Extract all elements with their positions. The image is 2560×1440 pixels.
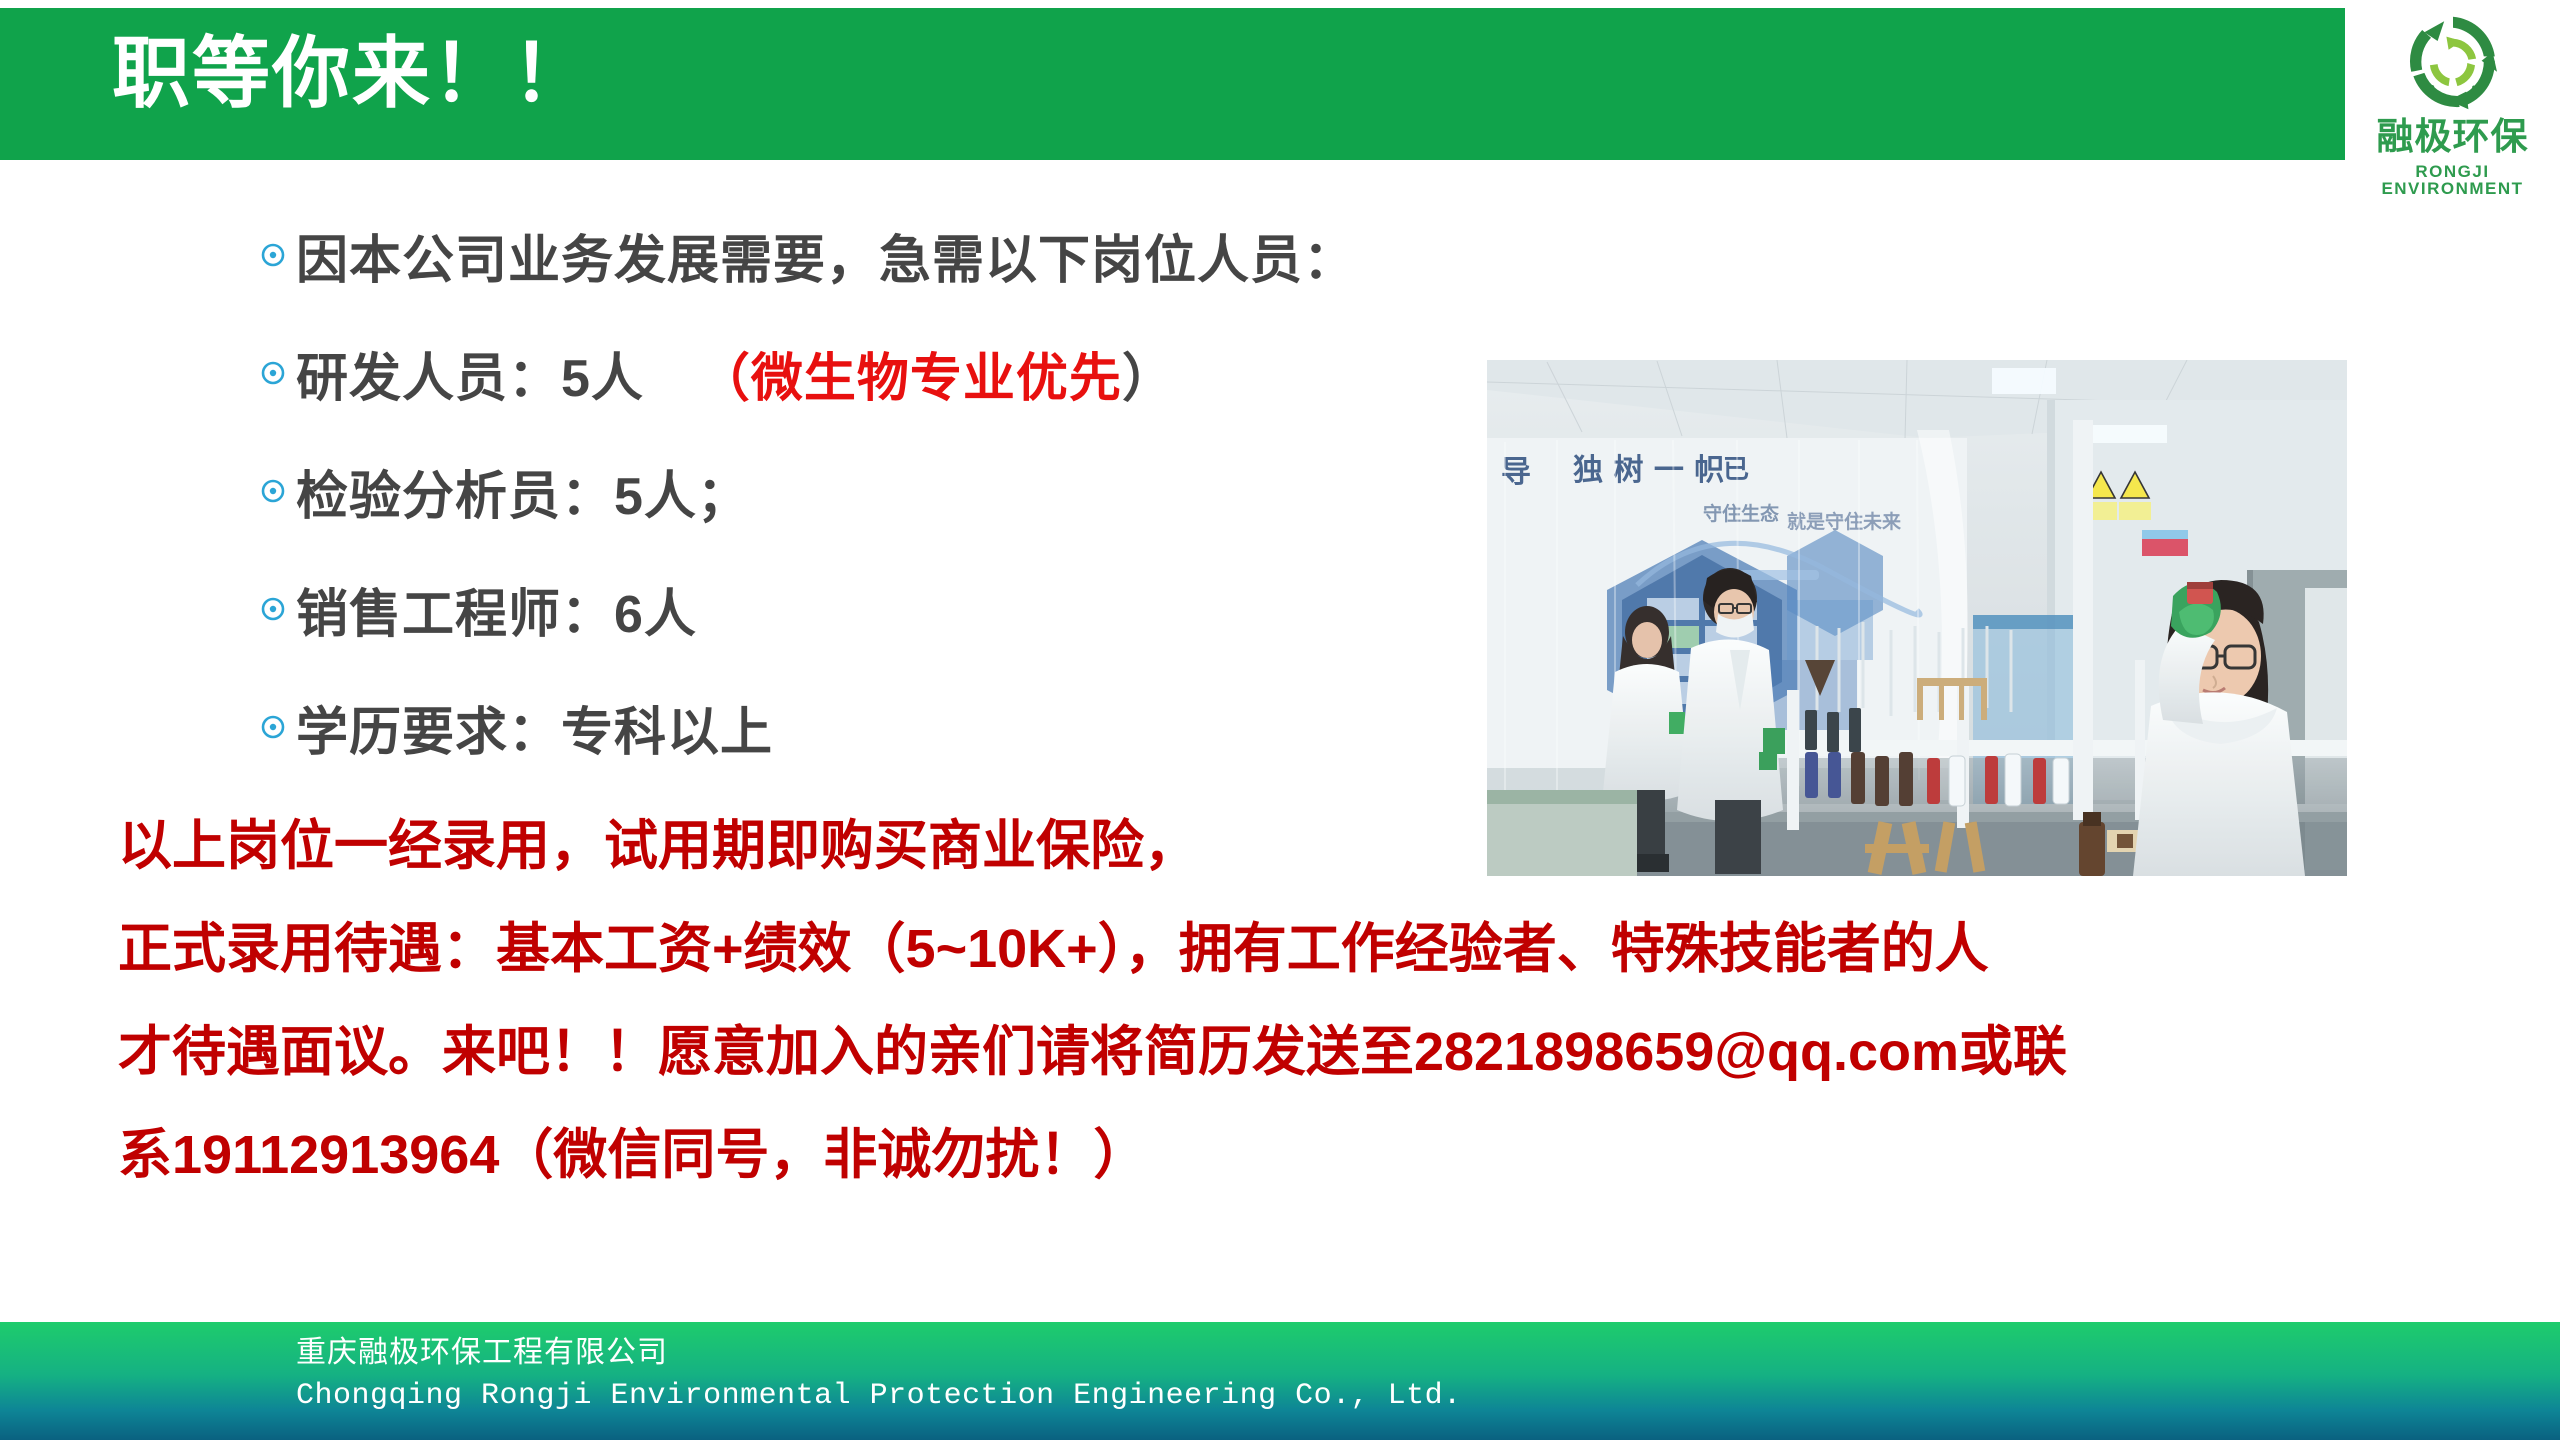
list-item-label: 因本公司业务发展需要，急需以下岗位人员：: [296, 218, 1356, 293]
rd-position-label: 研发人员：5人: [296, 350, 644, 408]
list-item: 学历要求：专科以上: [250, 668, 1480, 786]
bullet-circle-dot-icon: [250, 478, 296, 504]
logo-name-en: RONGJI ENVIRONMENT: [2345, 163, 2560, 197]
footer-company-cn: 重庆融极环保工程有限公司: [296, 1335, 668, 1371]
list-item-label: 研发人员：5人（微生物专业优先）: [296, 336, 1175, 411]
bullet-circle-dot-icon: [250, 596, 296, 622]
notice-line: 以上岗位一经录用，试用期即购买商业保险，: [118, 795, 2448, 898]
bullet-circle-dot-icon: [250, 242, 296, 268]
list-item-label: 检验分析员：5人；: [296, 454, 750, 529]
rd-position-highlight: （微生物专业优先: [698, 350, 1122, 408]
list-item: 因本公司业务发展需要，急需以下岗位人员：: [250, 196, 1480, 314]
list-item: 检验分析员：5人；: [250, 432, 1480, 550]
bullet-circle-dot-icon: [250, 714, 296, 740]
list-item: 销售工程师：6人: [250, 550, 1480, 668]
notice-line: 才待遇面议。来吧！！愿意加入的亲们请将简历发送至2821898659@qq.co…: [118, 1001, 2448, 1104]
footer-company-en: Chongqing Rongji Environmental Protectio…: [296, 1378, 1462, 1414]
notice-line: 正式录用待遇：基本工资+绩效（5~10K+），拥有工作经验者、特殊技能者的人: [118, 898, 2448, 1001]
header-bar: 职等你来！！: [0, 8, 2412, 160]
page-title: 职等你来！！: [112, 34, 592, 112]
list-item-label: 学历要求：专科以上: [296, 690, 773, 765]
list-item-label: 销售工程师：6人: [296, 572, 697, 647]
logo-name-cn: 融极环保: [2345, 118, 2560, 155]
footer-bar: 重庆融极环保工程有限公司 Chongqing Rongji Environmen…: [0, 1322, 2560, 1440]
list-item: 研发人员：5人（微生物专业优先）: [250, 314, 1480, 432]
rd-position-suffix: ）: [1122, 350, 1175, 408]
bullet-circle-dot-icon: [250, 360, 296, 386]
recycle-circle-icon: [2398, 8, 2508, 118]
notice-line: 系19112913964（微信同号，非诚勿扰！）: [118, 1104, 2448, 1207]
company-logo: 融极环保 RONGJI ENVIRONMENT: [2345, 0, 2560, 205]
job-bullet-list: 因本公司业务发展需要，急需以下岗位人员： 研发人员：5人（微生物专业优先） 检验…: [250, 196, 1480, 786]
recruitment-notice: 以上岗位一经录用，试用期即购买商业保险， 正式录用待遇：基本工资+绩效（5~10…: [118, 795, 2448, 1207]
